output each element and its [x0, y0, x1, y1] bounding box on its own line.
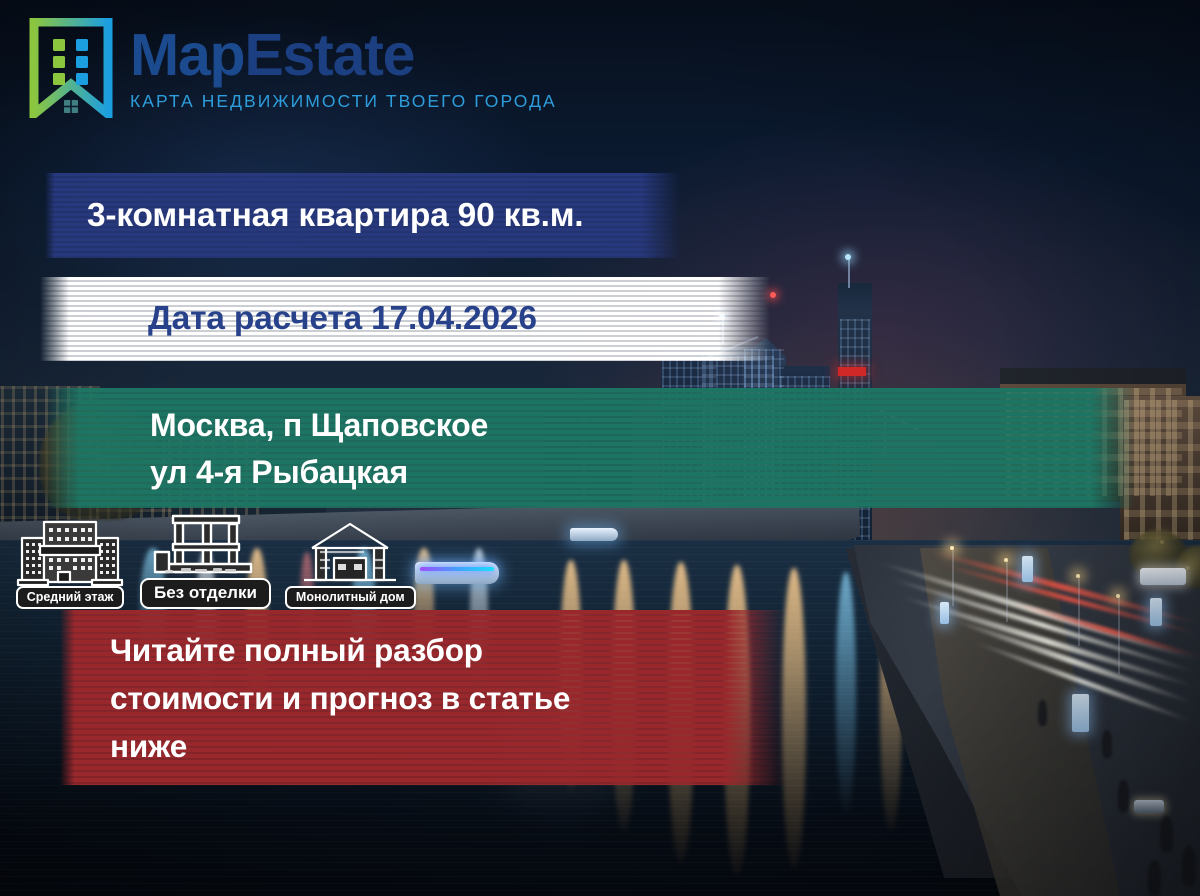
tower-red-sign: [838, 367, 866, 376]
billboard-panel: [1072, 694, 1089, 732]
skyline-tower-top: [838, 283, 872, 311]
feature-item[interactable]: Без отделки: [140, 512, 271, 609]
car: [1134, 800, 1164, 813]
tower-spire: [848, 256, 850, 288]
lamp-post: [952, 548, 954, 606]
pedestrian: [1182, 846, 1196, 886]
address-line-1: Москва, п Щаповское: [150, 402, 1135, 449]
pedestrian: [1102, 730, 1112, 758]
cta-line-3: ниже: [110, 722, 785, 770]
address-line-2: ул 4-я Рыбацкая: [150, 449, 1135, 496]
tower-beacon-light: [770, 292, 776, 298]
pedestrian: [1160, 816, 1173, 852]
tower-beacon-light: [845, 254, 851, 260]
title-banner: 3-комнатная квартира 90 кв.м.: [45, 173, 680, 258]
date-banner: Дата расчета 17.04.2026: [40, 277, 770, 361]
lamp-post: [1006, 560, 1008, 622]
brand-logo[interactable]: MapEstate КАРТА НЕДВИЖИМОСТИ ТВОЕГО ГОРО…: [28, 18, 557, 118]
cta-lines: Читайте полный разбор стоимости и прогно…: [60, 610, 785, 770]
boat-lights: [420, 567, 494, 571]
river-boat: [570, 528, 618, 541]
property-title: 3-комнатная квартира 90 кв.м.: [45, 173, 680, 258]
brand-tagline: КАРТА НЕДВИЖИМОСТИ ТВОЕГО ГОРОДА: [130, 93, 557, 111]
billboard-panel: [1022, 556, 1033, 582]
feature-badges: Средний этаж: [14, 512, 416, 609]
street-lamp: [950, 546, 954, 550]
feature-label: Без отделки: [140, 578, 271, 609]
billboard-panel: [940, 602, 949, 624]
bookmark-building-icon: [28, 18, 114, 118]
cta-banner: Читайте полный разбор стоимости и прогно…: [60, 610, 785, 785]
street-lamp: [1076, 574, 1080, 578]
building-windows: [1124, 400, 1200, 540]
address-lines: Москва, п Щаповское ул 4-я Рыбацкая: [45, 388, 1135, 496]
river-boat: [415, 562, 499, 584]
lamp-post: [1078, 576, 1080, 646]
pedestrian: [1118, 780, 1129, 812]
street-lamp: [1116, 594, 1120, 598]
brand-name-part1: Map: [130, 22, 244, 88]
cta-line-2: стоимости и прогноз в статье: [110, 674, 785, 722]
apartment-building-icon: [14, 516, 126, 588]
feature-label: Монолитный дом: [285, 586, 416, 610]
brand-name-part2: Estate: [244, 22, 414, 88]
feature-item[interactable]: Монолитный дом: [285, 518, 416, 610]
pedestrian: [1038, 700, 1047, 726]
building-roof: [1000, 368, 1186, 384]
address-banner: Москва, п Щаповское ул 4-я Рыбацкая: [45, 388, 1135, 508]
billboard-panel: [1150, 598, 1162, 626]
feature-label: Средний этаж: [16, 586, 125, 610]
cta-line-1: Читайте полный разбор: [110, 626, 785, 674]
brand-name: MapEstate: [130, 26, 557, 85]
bus: [1140, 568, 1186, 585]
promo-card: MapEstate КАРТА НЕДВИЖИМОСТИ ТВОЕГО ГОРО…: [0, 0, 1200, 896]
water-reflection: [836, 572, 856, 812]
monolithic-house-icon: [294, 518, 406, 588]
lamp-post: [1118, 596, 1120, 674]
unfinished-interior-icon: [147, 512, 263, 580]
calculation-date: Дата расчета 17.04.2026: [40, 277, 770, 361]
street-lamp: [1004, 558, 1008, 562]
feature-item[interactable]: Средний этаж: [14, 516, 126, 610]
pedestrian: [1148, 860, 1161, 896]
water-reflection: [782, 568, 806, 868]
